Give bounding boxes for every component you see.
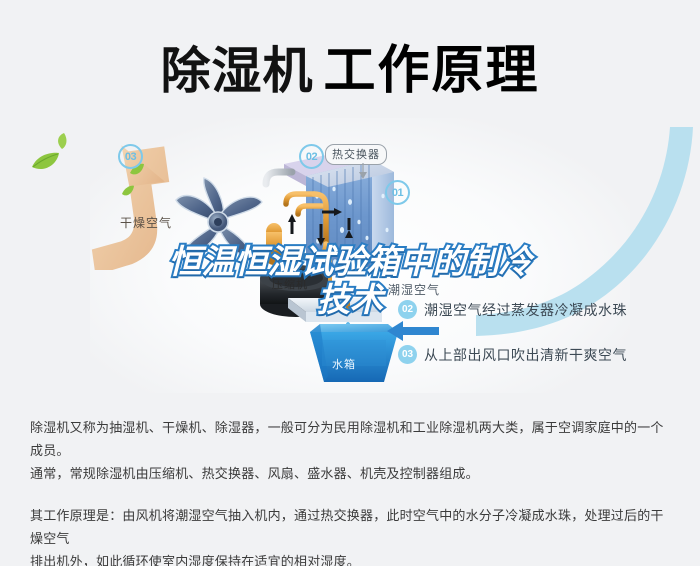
paragraph-2-line-1: 其工作原理是：由风机将潮湿空气抽入机内，通过热交换器，此时空气中的水分子冷凝成水… — [30, 505, 675, 551]
label-compressor: 压缩机 — [272, 276, 308, 292]
legend-item: 02 潮湿空气经过蒸发器冷凝成水珠 — [398, 294, 698, 325]
callout-pointer-icon — [356, 163, 370, 179]
dehumidifier-diagram: 03 干燥空气 02 热交换器 01 潮湿空气 压缩机 水箱 02 潮湿空气经过… — [0, 118, 700, 393]
leaf-icon — [55, 133, 69, 149]
callout-heat-exchanger: 热交换器 — [325, 144, 387, 165]
page-root: 除湿机工作原理 — [0, 0, 700, 566]
legend-text: 潮湿空气经过蒸发器冷凝成水珠 — [424, 300, 627, 320]
legend-text: 从上部出风口吹出清新干爽空气 — [424, 345, 627, 365]
label-dry-air: 干燥空气 — [120, 214, 172, 231]
legend-badge: 02 — [398, 300, 417, 319]
paragraph-2-line-2: 排出机外，如此循环使室内湿度保持在适宜的相对湿度。 — [30, 551, 675, 566]
fan-icon — [168, 170, 268, 270]
leaf-icon — [121, 185, 135, 198]
label-water-tank: 水箱 — [332, 356, 356, 372]
paragraph-1-line-1: 除湿机又称为抽湿机、干燥机、除湿器，一般可分为民用除湿机和工业除湿机两大类，属于… — [30, 417, 675, 463]
title-part-two: 工作原理 — [323, 41, 539, 101]
paragraph-1-line-2: 通常，常规除湿机由压缩机、热交换器、风扇、盛水器、机壳及控制器组成。 — [30, 463, 675, 486]
legend-item: 03 从上部出风口吹出清新干爽空气 — [398, 339, 698, 370]
title-part-one: 除湿机 — [160, 42, 313, 100]
diagram-badge-01: 01 — [385, 180, 410, 205]
paragraph-spacer — [30, 486, 675, 505]
diagram-badge-02: 02 — [299, 144, 324, 169]
diagram-badge-03: 03 — [118, 144, 143, 169]
legend-badge: 03 — [398, 345, 417, 364]
body-copy: 除湿机又称为抽湿机、干燥机、除湿器，一般可分为民用除湿机和工业除湿机两大类，属于… — [30, 417, 675, 566]
leaf-icon — [30, 151, 60, 173]
page-title: 除湿机工作原理 — [0, 28, 700, 103]
diagram-legend: 02 潮湿空气经过蒸发器冷凝成水珠 03 从上部出风口吹出清新干爽空气 — [398, 294, 698, 370]
